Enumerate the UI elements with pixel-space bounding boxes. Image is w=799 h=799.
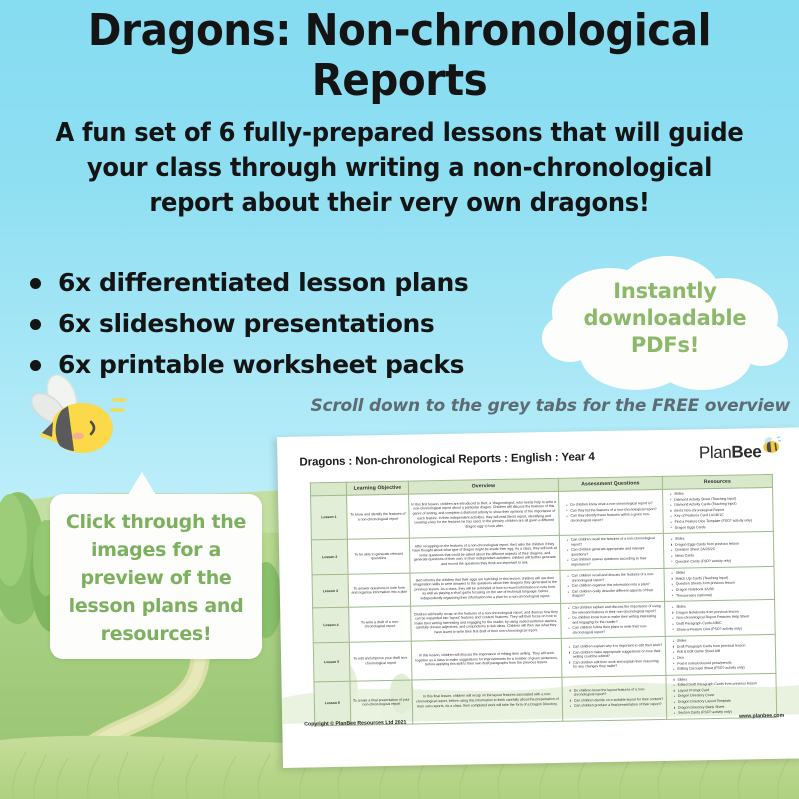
lesson-overview: Children will briefly recap on the featu… [411, 603, 562, 641]
lesson-overview-document[interactable]: Dragons : Non-chronological Reports : En… [277, 427, 799, 768]
lesson-overview-table: Learning Objective Overview Assessment Q… [310, 474, 777, 726]
website-url[interactable]: www.planbee.com [739, 713, 784, 720]
lesson-resources: SlidesDraft Paragraph Cards from previou… [665, 635, 776, 676]
bullet-dot-icon [30, 278, 41, 289]
resource-item: Question Cards (FSO? activity only) [671, 558, 771, 564]
lesson-objective: To answer questions in note form and org… [348, 573, 411, 607]
lesson-objective: To be able to generate relevant question… [347, 538, 410, 574]
bee-mascot-icon [22, 374, 132, 466]
logo-bee-icon [759, 436, 781, 454]
assessment-question-item: Do children know how to make their writi… [568, 614, 662, 625]
lesson-number: Lesson 5 [313, 642, 350, 681]
lesson-objective: To create a final presentation of your n… [350, 680, 413, 725]
bullet-dot-icon [30, 319, 41, 330]
lesson-overview: After recapping on the features of a non… [409, 535, 560, 573]
cloud-badge-text: Instantly downloadable PDFs! [540, 278, 790, 359]
lesson-objective: To write a draft of a non-chronological … [349, 606, 412, 642]
hero-subtitle: A fun set of 6 fully-prepared lessons th… [28, 116, 771, 221]
lesson-number: Lesson 2 [311, 539, 348, 575]
assessment-question-item: Can children make appropriate suggestion… [569, 649, 663, 660]
list-item: 6x differentiated lesson plans [22, 266, 468, 300]
lesson-overview: Bert informs the children that their egg… [410, 570, 561, 606]
planbee-logo: PlanBee [699, 442, 762, 463]
poster-canvas: Dragons: Non-chronological Reports A fun… [0, 0, 799, 799]
bullet-label: 6x slideshow presentations [58, 307, 434, 341]
assessment-question-item: Can children follow their plans to write… [569, 624, 663, 635]
lesson-overview: In this first lesson, children are intro… [409, 491, 560, 538]
logo-plan-text: Plan [699, 443, 732, 463]
bullet-dot-icon [30, 360, 41, 371]
col-learning-objective: Learning Objective [346, 481, 408, 495]
lesson-assessment-questions: Can children recall the features of a no… [559, 534, 664, 571]
cloud-line-3: PDFs! [540, 332, 790, 359]
resource-item: Editing Carousel Sheet (FSO? activity on… [673, 665, 773, 671]
lesson-assessment-questions: Can children explain and discuss the imp… [561, 602, 666, 639]
lesson-assessment-questions: Do children know what a non-chronologica… [559, 489, 664, 535]
lesson-assessment-questions: Can children explain why it is important… [561, 637, 666, 677]
lesson-number: Lesson 3 [312, 574, 349, 608]
cloud-badge: Instantly downloadable PDFs! [540, 252, 790, 400]
col-blank [310, 482, 346, 496]
page-title: Dragons: Non-chronological Reports [32, 6, 767, 106]
lesson-resources: SlidesDragon Notebooks from previous les… [665, 600, 776, 637]
list-item: 6x slideshow presentations [22, 307, 468, 341]
assessment-question-item: Can children assess questions according … [567, 556, 661, 567]
speech-bubble-text: Click through the images for a preview o… [58, 508, 254, 648]
assessment-question-item: Can children generate appropriate and re… [567, 546, 661, 557]
assessment-question-item: Do children know the layout features of … [570, 687, 664, 698]
resource-item: Share-a-Feature Dice (FSO? activity only… [673, 625, 773, 631]
bullet-label: 6x differentiated lesson plans [58, 266, 468, 300]
resource-item: Dragon Eggs Cards [671, 524, 771, 530]
cloud-line-1: Instantly [540, 278, 790, 305]
assessment-question-item: Can children orally describe different a… [568, 588, 662, 599]
cloud-line-2: downloadable [540, 305, 790, 332]
assessment-question-item: Can children recall and discuss the feat… [568, 572, 662, 583]
lesson-assessment-questions: Can children recall and discuss the feat… [560, 569, 665, 604]
assessment-question-item: Can they identify these features within … [566, 512, 660, 523]
lesson-overview: In this lesson, children will discuss th… [411, 638, 562, 679]
speech-bubble: Click through the images for a preview o… [50, 494, 262, 659]
lesson-objective: To know and identify the features of a n… [347, 494, 410, 539]
lesson-number: Lesson 6 [314, 681, 351, 726]
lesson-number: Lesson 1 [311, 495, 348, 540]
lesson-resources: SlidesDiamond Activity Sheet (Teaching I… [663, 487, 774, 533]
copyright-text: Copyright © PlanBee Resources Ltd 2021 [304, 720, 406, 728]
lesson-resources: SlidesMatch Up! Cards (Teaching Input)Qu… [664, 567, 775, 602]
speech-bubble-tail [128, 472, 156, 495]
document-header: Dragons : Non-chronological Reports : En… [299, 444, 789, 479]
assessment-question-item: Can children recall the features of a no… [567, 536, 661, 547]
hero-heading-block: Dragons: Non-chronological Reports A fun… [0, 6, 799, 221]
lesson-objective: To edit and improve your draft non-chron… [349, 641, 412, 681]
scroll-down-note: Scroll down to the grey tabs for the FRE… [250, 396, 790, 416]
document-title: Dragons : Non-chronological Reports : En… [299, 451, 595, 468]
logo-bee-text: Bee [731, 442, 761, 462]
feature-bullet-list: 6x differentiated lesson plans 6x slides… [22, 266, 468, 389]
assessment-question-item: Can children explain and discuss the imp… [568, 604, 662, 615]
lesson-resources: SlidesDragon Eggs Cards from previous le… [663, 532, 774, 569]
resource-item: Thesauruses (optional) [672, 591, 772, 597]
assessment-question-item: Can children edit their work and explain… [569, 659, 663, 670]
lesson-number: Lesson 4 [313, 607, 350, 643]
assessment-question-item: Can children produce a final presentatio… [570, 702, 664, 708]
